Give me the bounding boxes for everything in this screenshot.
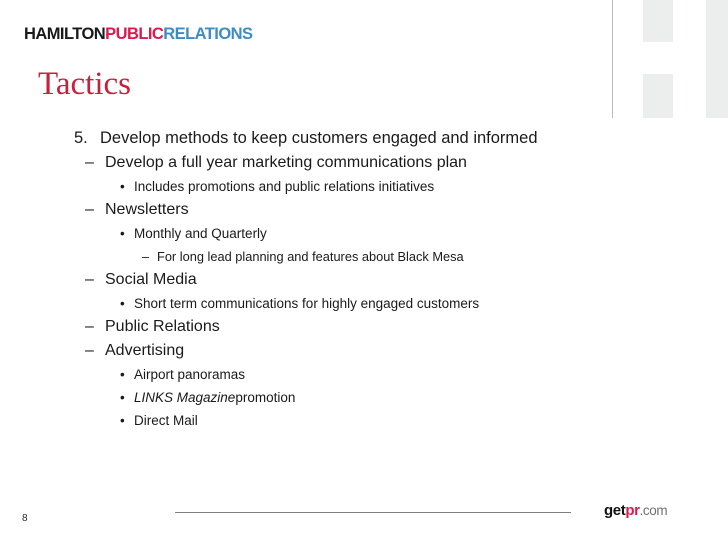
watermark-h-icon-stroke-right bbox=[706, 0, 728, 118]
logo-text-hamilton: HAMILTON bbox=[24, 25, 105, 43]
page-number: 8 bbox=[22, 514, 28, 524]
bullet-item-level-3: •Short term communications for highly en… bbox=[0, 292, 620, 315]
bullet-dash-icon: – bbox=[85, 198, 94, 222]
bullet-dot-icon: • bbox=[120, 386, 125, 409]
bullet-dot-icon: • bbox=[120, 409, 125, 432]
bullet-text: Monthly and Quarterly bbox=[134, 222, 267, 245]
bullet-item-level-2: –Social Media bbox=[0, 268, 620, 292]
bullet-text: Direct Mail bbox=[134, 409, 198, 432]
bullet-text: Airport panoramas bbox=[134, 363, 245, 386]
bullet-text: For long lead planning and features abou… bbox=[157, 245, 464, 268]
getpr-com-logo: getpr.com bbox=[604, 503, 667, 518]
getpr-text-pr: pr bbox=[625, 502, 639, 519]
bullet-item-level-3: •Direct Mail bbox=[0, 409, 620, 432]
bullet-item-level-4: –For long lead planning and features abo… bbox=[0, 245, 620, 268]
bullet-item-level-1: 5.Develop methods to keep customers enga… bbox=[0, 126, 620, 151]
bullet-dash-icon: – bbox=[142, 245, 149, 268]
bullet-item-level-3: •Includes promotions and public relation… bbox=[0, 175, 620, 198]
bullet-item-level-3: •Monthly and Quarterly bbox=[0, 222, 620, 245]
bullet-dot-icon: • bbox=[120, 175, 125, 198]
page-title: Tactics bbox=[38, 66, 131, 102]
bullet-item-level-2: –Advertising bbox=[0, 339, 620, 363]
logo-text-public: PUBLIC bbox=[105, 25, 163, 43]
bullet-dash-icon: – bbox=[85, 151, 94, 175]
bullet-text: Advertising bbox=[105, 339, 184, 363]
watermark-h-icon-stroke-upper-left bbox=[643, 0, 673, 42]
bullet-text-italic: LINKS Magazine bbox=[134, 386, 235, 409]
bullet-text: Public Relations bbox=[105, 315, 220, 339]
bullet-item-level-3: •Airport panoramas bbox=[0, 363, 620, 386]
bullet-dash-icon: – bbox=[85, 315, 94, 339]
bullet-text: promotion bbox=[235, 386, 295, 409]
slide-canvas: HAMILTONPUBLICRELATIONS Tactics 5.Develo… bbox=[0, 0, 728, 546]
bullet-item-level-2: –Newsletters bbox=[0, 198, 620, 222]
bullet-dash-icon: – bbox=[85, 339, 94, 363]
bullet-dash-icon: – bbox=[85, 268, 94, 292]
bullet-text: Short term communications for highly eng… bbox=[134, 292, 479, 315]
getpr-text-com: .com bbox=[640, 503, 668, 518]
bullet-dot-icon: • bbox=[120, 222, 125, 245]
bullet-item-level-3: •LINKS Magazine promotion bbox=[0, 386, 620, 409]
getpr-text-get: get bbox=[604, 502, 625, 519]
bullet-text: Develop a full year marketing communicat… bbox=[105, 151, 467, 175]
bullet-item-level-2: –Public Relations bbox=[0, 315, 620, 339]
bullet-text: Develop methods to keep customers engage… bbox=[100, 126, 538, 151]
bullet-dot-icon: • bbox=[120, 363, 125, 386]
vertical-rule-decoration bbox=[612, 0, 613, 118]
bullet-text: Newsletters bbox=[105, 198, 189, 222]
bullet-text: Includes promotions and public relations… bbox=[134, 175, 434, 198]
bullet-text: Social Media bbox=[105, 268, 197, 292]
bullet-item-level-2: –Develop a full year marketing communica… bbox=[0, 151, 620, 175]
bullet-list: 5.Develop methods to keep customers enga… bbox=[0, 126, 620, 432]
footer-divider bbox=[175, 512, 571, 513]
logo-text-relations: RELATIONS bbox=[163, 25, 252, 43]
watermark-h-icon-stroke-lower-left bbox=[643, 74, 673, 118]
bullet-dot-icon: • bbox=[120, 292, 125, 315]
list-number-marker: 5. bbox=[74, 126, 88, 151]
hamilton-public-relations-logo: HAMILTONPUBLICRELATIONS bbox=[24, 26, 252, 43]
